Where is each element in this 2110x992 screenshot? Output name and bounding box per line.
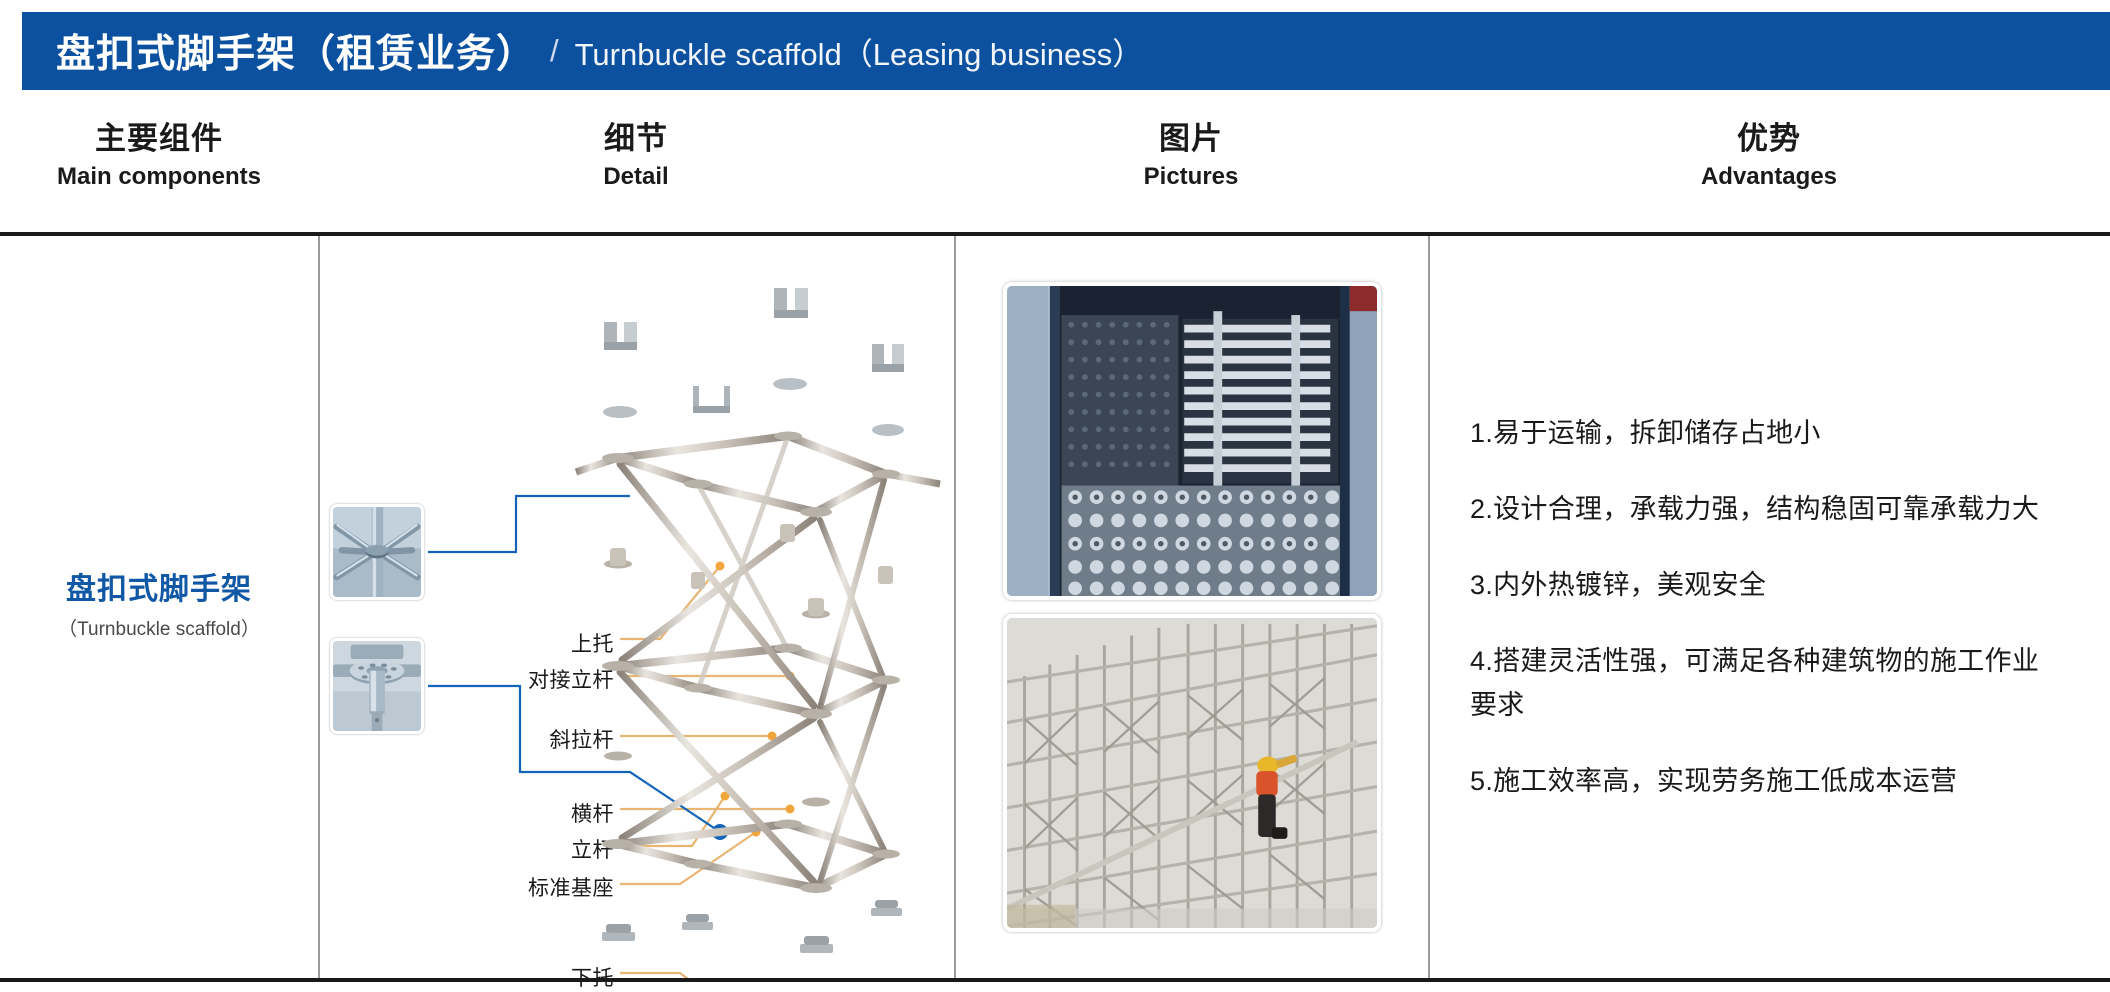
advantage-item: 3.内外热镀锌，美观安全 — [1470, 563, 2064, 607]
scaffold-illustration — [548, 236, 954, 978]
content-table: 盘扣式脚手架 （Turnbuckle scaffold） — [0, 232, 2110, 982]
page-title-en: Turnbuckle scaffold（Leasing business） — [575, 29, 1144, 74]
stacked-scaffold-tubes-in-container[interactable] — [1003, 282, 1381, 600]
column-header-en: Pictures — [1144, 160, 1239, 194]
column-header-en: Detail — [603, 160, 668, 194]
ring-lock-base-photo[interactable] — [330, 638, 424, 734]
rosette-node-photo[interactable] — [330, 504, 424, 600]
column-header-pictures: 图片 Pictures — [954, 118, 1428, 218]
component-name-cell: 盘扣式脚手架 （Turnbuckle scaffold） — [0, 236, 318, 978]
advantages-cell: 1.易于运输，拆卸储存占地小 2.设计合理，承载力强，结构稳固可靠承载力大 3.… — [1430, 236, 2110, 978]
rosette-node-image — [333, 507, 421, 597]
page-title-bar: 盘扣式脚手架（租赁业务） / Turnbuckle scaffold（Leasi… — [22, 12, 2110, 90]
table-bottom-rule — [0, 978, 2110, 982]
column-header-advantages: 优势 Advantages — [1428, 118, 2110, 218]
column-header-row: 主要组件 Main components 细节 Detail 图片 Pictur… — [0, 118, 2110, 218]
erected-scaffold-image — [1007, 618, 1377, 928]
column-header-en: Main components — [57, 160, 261, 194]
column-header-cn: 图片 — [1159, 118, 1223, 160]
column-header-en: Advantages — [1701, 160, 1837, 194]
page-title-cn: 盘扣式脚手架（租赁业务） — [56, 23, 536, 79]
column-header-cn: 优势 — [1737, 118, 1801, 160]
title-separator: / — [550, 33, 559, 69]
erected-scaffold-with-worker[interactable] — [1003, 614, 1381, 932]
advantage-item: 4.搭建灵活性强，可满足各种建筑物的施工作业要求 — [1470, 639, 2064, 727]
detail-cell: 上托 对接立杆 斜拉杆 横杆 立杆 标准基座 下托 — [320, 236, 954, 978]
column-header-cn: 细节 — [604, 118, 668, 160]
advantage-item: 2.设计合理，承载力强，结构稳固可靠承载力大 — [1470, 487, 2064, 531]
column-header-main-components: 主要组件 Main components — [0, 118, 318, 218]
column-header-detail: 细节 Detail — [318, 118, 954, 218]
pictures-cell — [956, 236, 1428, 978]
component-name-cn: 盘扣式脚手架 — [66, 568, 252, 612]
ring-lock-base-image — [333, 641, 421, 731]
advantage-item: 5.施工效率高，实现劳务施工低成本运营 — [1470, 759, 2064, 803]
column-header-cn: 主要组件 — [95, 118, 223, 160]
component-name-en: （Turnbuckle scaffold） — [58, 614, 260, 646]
stacked-tubes-image — [1007, 286, 1377, 596]
advantage-item: 1.易于运输，拆卸储存占地小 — [1470, 411, 2064, 455]
